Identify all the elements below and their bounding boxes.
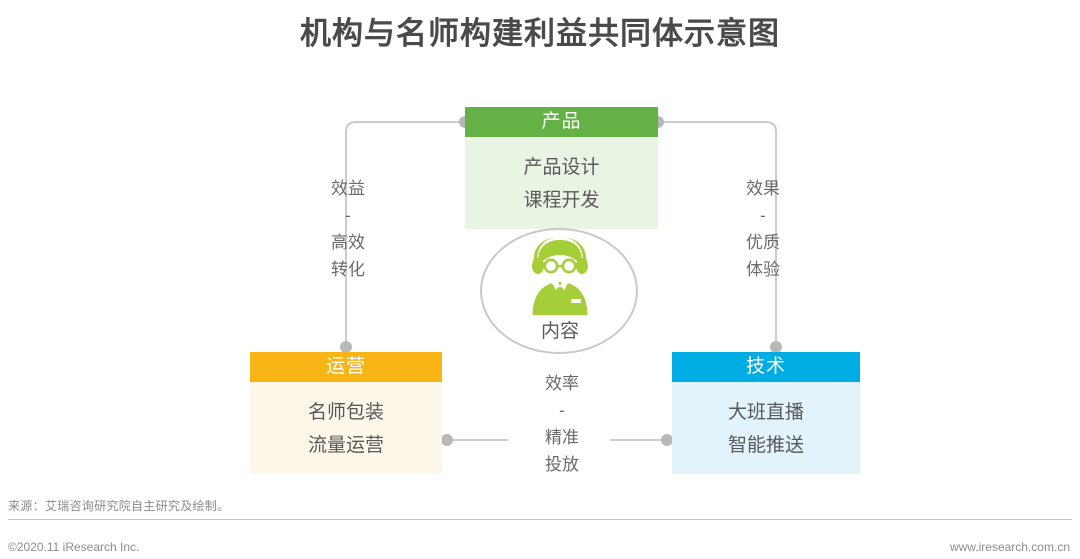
node-technology-line-2: 智能推送 — [672, 429, 860, 462]
edge-label-right-line-2: - — [718, 202, 808, 229]
edge-label-left-line-3: 高效 — [303, 229, 393, 256]
slide-canvas: 机构与名师构建利益共同体示意图 产品 产品设计 课程开发 运营 名师包装 流量运… — [0, 0, 1080, 559]
edge-label-operations-technology: 效率 - 精准 投放 — [517, 370, 607, 478]
center-node[interactable]: 内容 — [480, 228, 640, 356]
node-technology[interactable]: 技术 大班直播 智能推送 — [672, 352, 860, 474]
footer-divider — [8, 519, 1072, 520]
edge-label-product-technology: 效果 - 优质 体验 — [718, 175, 808, 283]
node-operations-line-2: 流量运营 — [250, 429, 442, 462]
edge-label-left-line-1: 效益 — [303, 175, 393, 202]
edge-label-bottom-line-1: 效率 — [517, 370, 607, 397]
node-product-body: 产品设计 课程开发 — [465, 137, 658, 229]
website-link[interactable]: www.iresearch.com.cn — [950, 540, 1070, 554]
teacher-icon — [521, 236, 599, 316]
node-operations-body: 名师包装 流量运营 — [250, 382, 442, 474]
node-product-line-2: 课程开发 — [465, 184, 658, 217]
node-technology-header: 技术 — [672, 352, 860, 382]
node-product-line-1: 产品设计 — [465, 151, 658, 184]
edge-label-bottom-line-2: - — [517, 397, 607, 424]
node-operations[interactable]: 运营 名师包装 流量运营 — [250, 352, 442, 474]
center-label: 内容 — [480, 316, 640, 343]
node-operations-line-1: 名师包装 — [250, 396, 442, 429]
edge-label-right-line-1: 效果 — [718, 175, 808, 202]
edge-label-product-operations: 效益 - 高效 转化 — [303, 175, 393, 283]
edge-label-right-line-4: 体验 — [718, 256, 808, 283]
edge-label-left-line-4: 转化 — [303, 256, 393, 283]
edge-label-right-line-3: 优质 — [718, 229, 808, 256]
node-product-header: 产品 — [465, 107, 658, 137]
node-operations-header: 运营 — [250, 352, 442, 382]
edge-label-bottom-line-4: 投放 — [517, 451, 607, 478]
node-technology-line-1: 大班直播 — [672, 396, 860, 429]
copyright-text: ©2020.11 iResearch Inc. — [8, 540, 139, 554]
edge-label-bottom-line-3: 精准 — [517, 424, 607, 451]
edge-label-left-line-2: - — [303, 202, 393, 229]
node-product[interactable]: 产品 产品设计 课程开发 — [465, 107, 658, 229]
node-technology-body: 大班直播 智能推送 — [672, 382, 860, 474]
source-note: 来源：艾瑞咨询研究院自主研究及绘制。 — [8, 497, 229, 514]
